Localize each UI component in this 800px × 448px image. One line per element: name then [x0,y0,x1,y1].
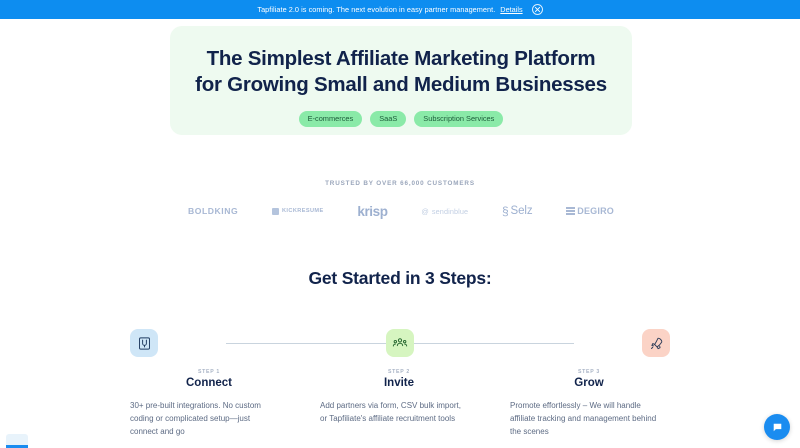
logo-kickresume-label: KICKRESUME [282,208,324,214]
step-number: STEP 1 [170,369,248,375]
logo-degiro-label: DEGIRO [577,206,614,216]
step-description: 30+ pre-built integrations. No custom co… [130,400,280,439]
people-icon [386,329,414,357]
logo-selz: § Selz [502,204,533,218]
trusted-by-label: TRUSTED BY OVER 66,000 CUSTOMERS [0,180,800,187]
step-card-grow: STEP 3 Grow Promote effortlessly – We wi… [510,369,670,439]
step-title: Invite [360,377,438,389]
hero-pill-list: E-commerces SaaS Subscription Services [299,111,504,126]
announcement-text: Tapfiliate 2.0 is coming. The next evolu… [257,5,495,14]
chat-bubble-icon[interactable] [764,414,790,440]
logo-degiro: DEGIRO [566,206,614,216]
steps-section-title: Get Started in 3 Steps: [0,268,800,289]
hero-section: The Simplest Affiliate Marketing Platfor… [170,26,632,135]
selz-mark-icon: § [502,204,509,218]
step-title: Grow [550,377,628,389]
page-title: The Simplest Affiliate Marketing Platfor… [191,46,611,98]
degiro-mark-icon [566,207,575,215]
customer-logo-row: BOLDKING KICKRESUME krisp @ sendinblue §… [170,200,632,222]
kickresume-mark-icon [272,208,279,215]
steps-track [130,325,670,361]
hero-pill-saas[interactable]: SaaS [370,111,406,126]
step-card-connect: STEP 1 Connect 30+ pre-built integration… [130,369,290,439]
logo-selz-label: Selz [511,205,533,217]
step-number: STEP 2 [360,369,438,375]
plug-icon [130,329,158,357]
announcement-details-link[interactable]: Details [500,5,522,14]
logo-kickresume: KICKRESUME [272,208,324,215]
logo-boldking: BOLDKING [188,206,238,216]
rocket-icon [642,329,670,357]
close-icon[interactable] [532,4,543,15]
announcement-banner: Tapfiliate 2.0 is coming. The next evolu… [0,0,800,19]
steps-section: STEP 1 Connect 30+ pre-built integration… [130,325,670,439]
step-description: Add partners via form, CSV bulk import, … [320,400,470,426]
step-card-invite: STEP 2 Invite Add partners via form, CSV… [320,369,480,439]
steps-columns: STEP 1 Connect 30+ pre-built integration… [130,369,670,439]
logo-sendinblue: @ sendinblue [421,207,468,216]
step-title: Connect [170,377,248,389]
step-number: STEP 3 [550,369,628,375]
hero-pill-ecommerces[interactable]: E-commerces [299,111,363,126]
landing-page: Tapfiliate 2.0 is coming. The next evolu… [0,0,800,448]
cookie-consent-icon[interactable] [6,434,28,448]
sendinblue-mark-icon: @ [421,207,429,216]
step-description: Promote effortlessly – We will handle af… [510,400,660,439]
hero-pill-subscription-services[interactable]: Subscription Services [414,111,503,126]
logo-sendinblue-label: sendinblue [432,207,468,216]
logo-krisp: krisp [357,204,387,219]
